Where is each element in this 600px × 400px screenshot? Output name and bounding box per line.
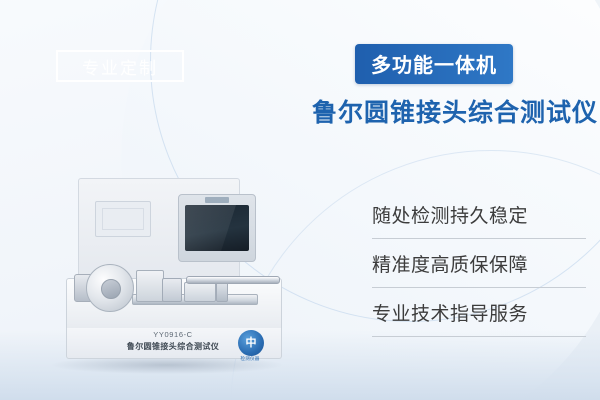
machine-adjust-knob <box>216 282 228 302</box>
machine-fixture-block-c <box>184 282 216 302</box>
machine-push-rod <box>186 276 280 284</box>
custom-badge-label: 专业定制 <box>82 54 158 79</box>
machine-fixture-block-a <box>136 270 164 302</box>
brand-seal-icon: 中 <box>238 330 264 356</box>
machine-control-panel <box>178 194 256 262</box>
product-subtitle: 鲁尔圆锥接头综合测试仪 <box>312 93 598 129</box>
machine-handwheel <box>86 264 134 312</box>
title-pill-label: 多功能一体机 <box>371 55 497 77</box>
feature-item-2: 精准度高质保保障 <box>372 238 586 287</box>
feature-item-3: 专业技术指导服务 <box>372 287 586 337</box>
custom-badge: 专业定制 <box>56 50 184 82</box>
feature-list: 随处检测持久稳定 精准度高质保保障 专业技术指导服务 <box>372 190 586 337</box>
feature-item-1-label: 随处检测持久稳定 <box>372 201 528 228</box>
feature-item-2-label: 精准度高质保保障 <box>372 250 528 277</box>
feature-item-3-label: 专业技术指导服务 <box>372 299 528 326</box>
title-pill: 多功能一体机 <box>355 44 513 84</box>
machine-touchscreen <box>185 205 249 251</box>
brand-seal-caption: 检测仪器 <box>224 356 276 362</box>
feature-item-1: 随处检测持久稳定 <box>372 190 586 238</box>
machine-back-panel-window <box>95 201 151 237</box>
brand-seal-mark: 中 <box>246 338 257 349</box>
machine-fixture-block-b <box>162 278 182 302</box>
product-photo: YY0916-C 鲁尔圆锥接头综合测试仪 中 检测仪器 <box>66 178 280 370</box>
machine-brand-strip <box>205 197 229 203</box>
banner-image: 专业定制 多功能一体机 鲁尔圆锥接头综合测试仪 随处检测持久稳定 精准度高质保保… <box>0 0 600 400</box>
